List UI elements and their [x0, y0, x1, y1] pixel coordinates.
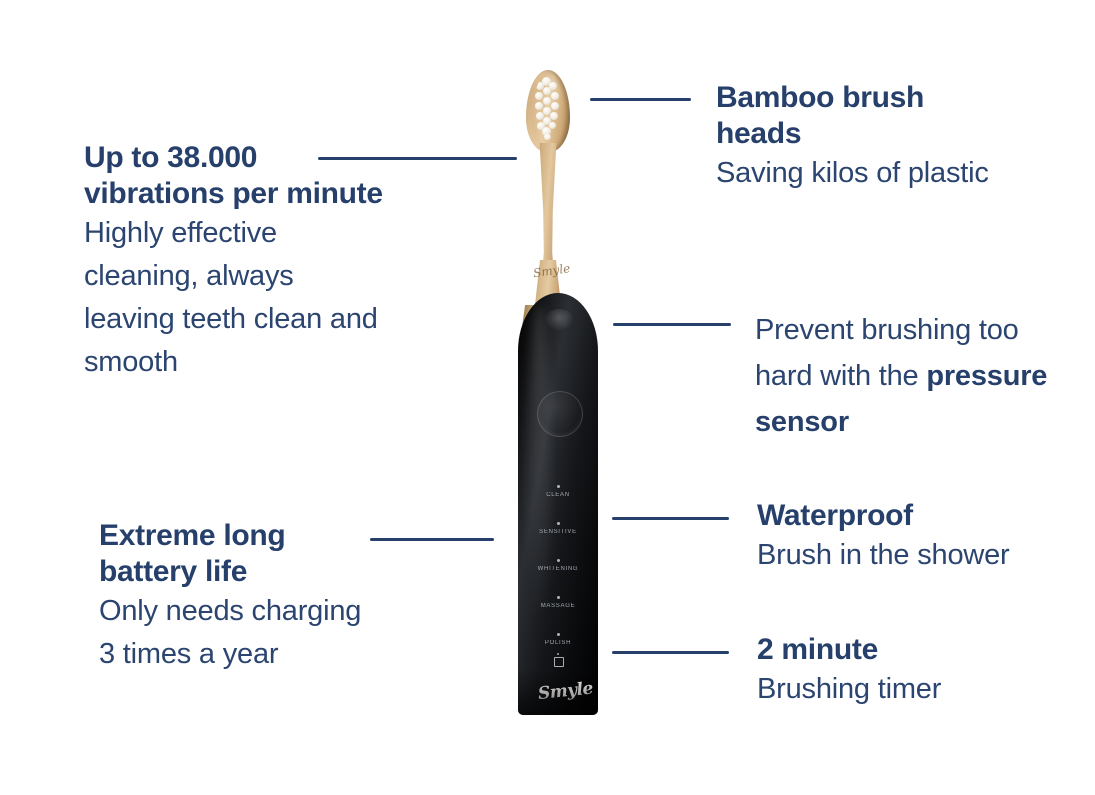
- toothbrush-handle: CLEAN SENSITIVE WHITENING MASSAGE POLISH: [518, 293, 598, 715]
- mode-clean[interactable]: CLEAN: [518, 485, 598, 522]
- mode-indicator-list: CLEAN SENSITIVE WHITENING MASSAGE POLISH: [518, 485, 598, 670]
- battery-led-icon: [557, 653, 559, 655]
- product-toothbrush-image: Smyle CLEAN SENSITIVE WHITENING: [495, 55, 625, 725]
- connector-line-pressure: [613, 323, 731, 326]
- feature-timer-title: 2 minute: [757, 632, 1057, 668]
- infographic-canvas: Up to 38.000 vibrations per minute Highl…: [0, 0, 1095, 795]
- mode-sensitive[interactable]: SENSITIVE: [518, 522, 598, 559]
- feature-battery: Extreme long battery life Only needs cha…: [99, 518, 364, 676]
- mode-whitening[interactable]: WHITENING: [518, 559, 598, 596]
- mode-label: SENSITIVE: [518, 529, 598, 535]
- feature-vibrations-body: Highly effective cleaning, always leavin…: [84, 212, 384, 384]
- battery-icon: [554, 653, 563, 665]
- feature-battery-title: Extreme long battery life: [99, 518, 364, 590]
- mode-label: WHITENING: [518, 566, 598, 572]
- feature-pressure: Prevent brushing too hard with the press…: [755, 307, 1055, 445]
- connector-line-battery: [370, 538, 494, 541]
- mode-led-icon: [557, 596, 560, 599]
- feature-waterproof-title: Waterproof: [757, 498, 1077, 534]
- mode-label: POLISH: [518, 640, 598, 646]
- feature-timer-body: Brushing timer: [757, 668, 1057, 710]
- mode-led-icon: [557, 485, 560, 488]
- brush-head-logo: Smyle: [532, 261, 568, 282]
- mode-led-icon: [557, 633, 560, 636]
- connector-line-waterproof: [612, 517, 729, 520]
- feature-bamboo-body: Saving kilos of plastic: [716, 152, 1016, 195]
- feature-pressure-body: Prevent brushing too hard with the press…: [755, 307, 1055, 445]
- power-button[interactable]: [537, 391, 583, 437]
- handle-top-highlight: [544, 309, 574, 331]
- feature-bamboo: Bamboo brush heads Saving kilos of plast…: [716, 80, 1016, 195]
- battery-body-icon: [554, 657, 564, 667]
- handle-bottom-shading: [518, 669, 598, 715]
- mode-massage[interactable]: MASSAGE: [518, 596, 598, 633]
- feature-waterproof-body: Brush in the shower: [757, 534, 1077, 576]
- feature-vibrations-title: Up to 38.000 vibrations per minute: [84, 140, 384, 212]
- feature-vibrations: Up to 38.000 vibrations per minute Highl…: [84, 140, 384, 384]
- mode-led-icon: [557, 559, 560, 562]
- feature-timer: 2 minute Brushing timer: [757, 632, 1057, 710]
- mode-label: MASSAGE: [518, 603, 598, 609]
- feature-battery-body: Only needs charging 3 times a year: [99, 590, 364, 676]
- feature-bamboo-title: Bamboo brush heads: [716, 80, 1016, 152]
- mode-label: CLEAN: [518, 492, 598, 498]
- connector-line-timer: [612, 651, 729, 654]
- feature-waterproof: Waterproof Brush in the shower: [757, 498, 1077, 576]
- mode-led-icon: [557, 522, 560, 525]
- brush-bristles: [533, 75, 562, 142]
